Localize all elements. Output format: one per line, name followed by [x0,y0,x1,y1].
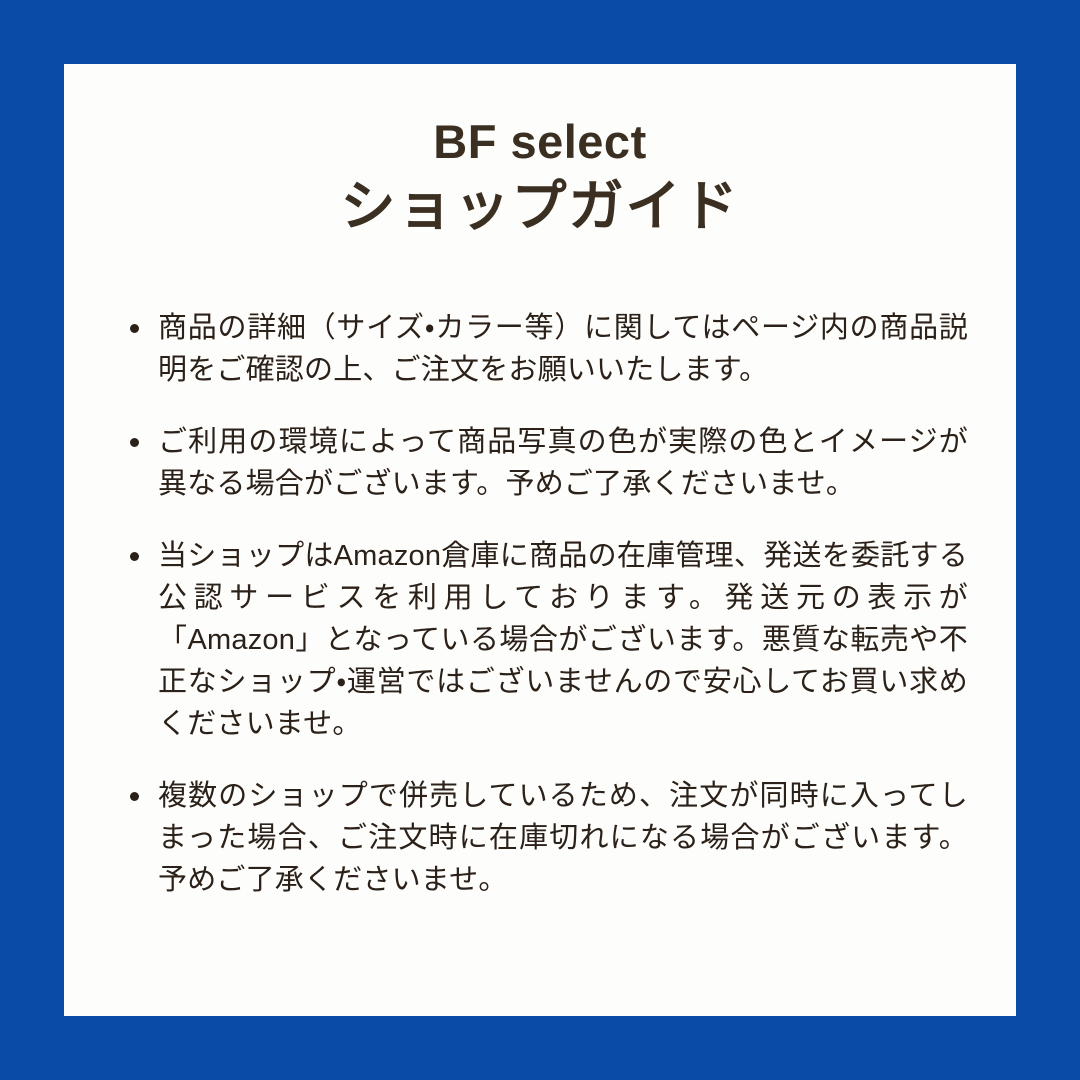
list-item: 複数のショップで併売しているため、注文が同時に入ってしまった場合、ご注文時に在庫… [130,775,968,901]
bullet-dot-icon [130,792,139,801]
bullet-dot-icon [130,324,139,333]
list-item-text: ご利用の環境によって商品写真の色が実際の色とイメージが異なる場合がございます。予… [158,421,968,505]
list-item: 当ショップはAmazon倉庫に商品の在庫管理、発送を委託する公認サービスを利用し… [130,535,968,745]
list-item: 商品の詳細（サイズ・カラー等）に関してはページ内の商品説明をご確認の上、ご注文を… [130,307,968,391]
bullet-dot-icon [130,438,139,447]
title-line-brand: BF select [64,114,1016,169]
list-item-text: 当ショップはAmazon倉庫に商品の在庫管理、発送を委託する公認サービスを利用し… [158,535,968,745]
list-item-text: 複数のショップで併売しているため、注文が同時に入ってしまった場合、ご注文時に在庫… [158,775,968,901]
page-title: BF select ショップガイド [64,64,1016,239]
list-item: ご利用の環境によって商品写真の色が実際の色とイメージが異なる場合がございます。予… [130,421,968,505]
shop-guide-note-list: 商品の詳細（サイズ・カラー等）に関してはページ内の商品説明をご確認の上、ご注文を… [64,307,1016,901]
guide-card: BF select ショップガイド 商品の詳細（サイズ・カラー等）に関してはペー… [64,64,1016,1016]
title-line-subtitle: ショップガイド [64,173,1016,239]
bullet-dot-icon [130,552,139,561]
poster-background: BF select ショップガイド 商品の詳細（サイズ・カラー等）に関してはペー… [0,0,1080,1080]
list-item-text: 商品の詳細（サイズ・カラー等）に関してはページ内の商品説明をご確認の上、ご注文を… [158,307,968,391]
